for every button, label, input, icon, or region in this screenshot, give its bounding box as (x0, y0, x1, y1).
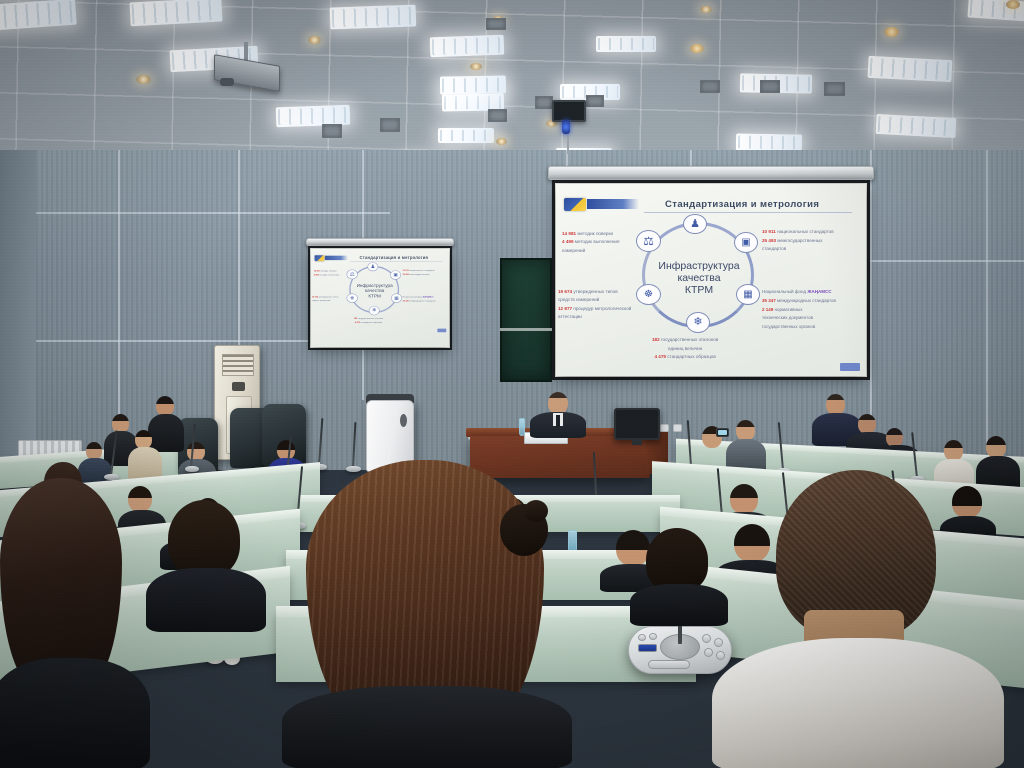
callout-number: 12 877 (558, 306, 572, 311)
head (277, 440, 295, 460)
callout-number: 4 499 (314, 274, 319, 276)
callout-number: 19 674 (312, 296, 318, 298)
foreground-audience-left (0, 478, 150, 768)
callout-left-top: 14 981 методик поверки 4 499 методик вып… (314, 269, 340, 277)
callout-left-bottom: 19 674 утвержденных типов средств измере… (558, 288, 631, 322)
callout-right-top: 10 911 национальных стандартов 25 493 ме… (762, 228, 834, 254)
ceiling-downlight (470, 63, 482, 70)
callout-text: Национальный фонд (403, 296, 423, 298)
callout-text: стандартов (762, 246, 786, 251)
state-emblem-icon (564, 198, 586, 211)
callout-text: средств измерений (558, 297, 599, 302)
ceiling-panel-light (736, 133, 802, 151)
foreground-audience-left-mid (146, 500, 266, 630)
callout-text: межгосударственных (777, 238, 822, 243)
torso (146, 568, 266, 632)
projector-body (214, 54, 280, 92)
projection-screen-surface: Стандартизация и метрология ♟ ▣ ▦ ❄ ☸ ⚖ … (556, 184, 866, 376)
node-building-icon: ▣ (734, 232, 758, 253)
ceiling-panel-light (330, 5, 417, 30)
ceiling-vent (586, 95, 604, 107)
node-person-icon: ♟ (368, 262, 379, 271)
callout-number: 2 149 (762, 307, 773, 312)
callout-number: 25 493 (762, 238, 776, 243)
conference-unit-talk-button[interactable] (648, 660, 690, 669)
head (826, 394, 845, 415)
audience-member-taking-photo (694, 420, 738, 464)
audience-member-bun (486, 500, 562, 572)
water-bottle (519, 418, 525, 436)
presenter-head (548, 392, 568, 414)
callout-number: 14 981 (562, 231, 576, 236)
ceiling-downlight (308, 36, 321, 44)
secondary-slide-header: Стандартизация и метрология (315, 254, 446, 261)
ceiling-vent (824, 82, 845, 96)
projection-screen-housing (548, 166, 874, 180)
wall-seam (866, 260, 1024, 262)
wall-monitor-indicator-icon (562, 120, 570, 134)
air-conditioner-grille (222, 354, 254, 376)
wall-socket (660, 424, 669, 432)
callout-text: средств измерений (312, 300, 330, 302)
callout-number: 35 347 (762, 298, 776, 303)
callout-text: технических документов (762, 315, 813, 320)
node-person-icon: ♟ (683, 214, 707, 234)
slide-page-badge (840, 363, 860, 371)
ceiling-panel-light (867, 56, 952, 82)
ceiling-vent (486, 18, 506, 30)
callout-accent: ЖАҢАМСС (423, 296, 434, 298)
lecture-hall-photo: Стандартизация и метрология ♟ ▣ ▦ ❄ ☸ ⚖ … (0, 0, 1024, 768)
callout-text: международных стандартов (409, 300, 435, 302)
callout-text: измерений (562, 248, 585, 253)
ceiling-vent (700, 80, 720, 93)
callout-text: стандартных образцов (667, 354, 716, 359)
callout-number: 182 (354, 317, 357, 319)
secondary-slide-title: Стандартизация и метрология (360, 255, 429, 260)
callout-number: 10 911 (403, 269, 409, 271)
ceiling-vent (322, 124, 342, 138)
hair (0, 478, 122, 688)
wall-socket (673, 424, 682, 432)
callout-number: 182 (652, 337, 660, 342)
torso (128, 447, 162, 480)
secondary-slide-content: Стандартизация и метрология ♟ ▣ ▦ ❄ ☸ ⚖ … (311, 249, 449, 334)
callout-bottom-center: 182 государственных эталонов 4 479 станд… (354, 317, 383, 325)
callout-text: методик выполнения (575, 239, 620, 244)
ceiling-vent (535, 96, 553, 109)
callout-number: 19 674 (558, 289, 572, 294)
state-emblem-icon (315, 255, 325, 261)
callout-text: аттестации (558, 314, 582, 319)
foreground-audience-mid-right (630, 528, 728, 624)
node-building-icon: ▣ (390, 270, 401, 279)
wall-seam (986, 150, 988, 450)
callout-right-bottom: Национальный фонд ЖАҢАМСС 35 347 междуна… (762, 288, 836, 332)
slide-page-badge (437, 329, 446, 333)
foreground-audience-right (712, 470, 1004, 768)
head (168, 500, 240, 578)
smartphone (716, 428, 729, 437)
callout-text: межгосударственных (409, 273, 429, 275)
hair-bun (524, 500, 548, 522)
center-line-2: КТРМ (685, 284, 713, 296)
center-line-2: КТРМ (368, 294, 381, 299)
ceiling-downlight (1006, 0, 1020, 9)
chalkboard (500, 258, 552, 382)
presenter-tie (556, 415, 560, 427)
node-scales-icon: ⚖ (636, 230, 661, 252)
callout-text: национальных стандартов (409, 269, 434, 271)
ceiling-downlight (496, 138, 507, 145)
head (646, 528, 708, 592)
callout-text: государственных эталонов (661, 337, 718, 342)
head (986, 436, 1006, 458)
conference-unit-button[interactable] (702, 634, 711, 643)
head (156, 396, 174, 416)
presenter-monitor-stand (632, 439, 642, 445)
ceiling-panel-light (876, 114, 957, 138)
ceiling-panel-light (430, 35, 505, 58)
callout-text: стандартных образцов (360, 321, 382, 323)
smartphone-screen (718, 430, 727, 435)
slide-header: Стандартизация и метрология (564, 196, 858, 212)
callout-number: 14 981 (314, 270, 320, 272)
presenter (528, 392, 588, 438)
wall-monitor (552, 100, 586, 122)
ceiling-panel-light (596, 36, 656, 52)
ceiling-vent (488, 109, 507, 122)
callout-text: утвержденных типов (573, 289, 617, 294)
callout-number: 4 499 (562, 239, 574, 244)
projector-lens (220, 78, 234, 86)
head (736, 420, 755, 441)
chalkboard-rail (500, 328, 552, 331)
callout-number: 25 493 (403, 273, 409, 275)
callout-text: государственных эталонов (358, 317, 384, 319)
conference-unit-display (638, 644, 657, 652)
slide-content: Стандартизация и метрология ♟ ▣ ▦ ❄ ☸ ⚖ … (556, 184, 866, 376)
slide-header-bar (325, 256, 348, 260)
callout-text: нормативных (775, 307, 803, 312)
ceiling-vent (380, 118, 400, 132)
wall-seam (0, 212, 390, 214)
callout-right-top: 10 911 национальных стандартов 25 493 ме… (403, 269, 435, 277)
node-snowflake-icon: ❄ (369, 306, 380, 315)
callout-left-bottom: 19 674 утвержденных типов средств измере… (312, 295, 339, 303)
callout-text: международных стандартов (777, 298, 836, 303)
center-line-1: Инфраструктура качества (658, 260, 739, 284)
callout-text: методик поверки (577, 231, 613, 236)
microphone-base (185, 466, 199, 472)
wall-seam (118, 150, 120, 450)
secondary-screen-housing (306, 238, 454, 246)
torso (0, 658, 150, 768)
callout-left-top: 14 981 методик поверки 4 499 методик вып… (562, 230, 619, 255)
callout-text: утвержденных типов (319, 296, 339, 298)
ceiling-projector (212, 42, 292, 98)
callout-text: методик поверки (320, 270, 336, 272)
left-side-wall (0, 150, 36, 480)
lectern-handle-icon (400, 414, 407, 427)
wall-seam (870, 150, 872, 450)
node-scales-icon: ⚖ (347, 269, 358, 279)
ceiling-downlight (884, 27, 899, 37)
node-snowflake-icon: ❄ (686, 312, 710, 333)
callout-text: единиц величин (668, 346, 702, 351)
callout-text: национальных стандартов (777, 229, 834, 234)
head (858, 414, 876, 434)
ceiling-vent (760, 80, 780, 93)
audience-member (128, 430, 162, 480)
callout-accent: ЖАҢАМСС (807, 289, 831, 294)
callout-number: 35 347 (403, 300, 409, 302)
ceiling-downlight (136, 75, 151, 84)
ceiling-downlight (700, 6, 712, 13)
callout-right-bottom: Национальный фонд ЖАҢАМСС 35 347 междуна… (403, 295, 436, 303)
callout-number: 4 479 (355, 321, 360, 323)
ceiling-panel-light (440, 75, 506, 94)
callout-number: 10 911 (762, 229, 776, 234)
torso-white-shirt (712, 638, 1004, 768)
air-conditioner-display (232, 382, 245, 391)
callout-bottom-center: 182 государственных эталонов единиц вели… (652, 336, 718, 362)
head (944, 440, 963, 461)
callout-number: 4 479 (654, 354, 666, 359)
ceiling-panel-light (438, 128, 494, 143)
secondary-screen-surface: Стандартизация и метрология ♟ ▣ ▦ ❄ ☸ ⚖ … (311, 249, 449, 347)
callout-text: государственных органов (762, 324, 815, 329)
secondary-center-label: Инфраструктура качества КТРМ (351, 283, 398, 299)
torso (630, 584, 728, 626)
ceiling-downlight (690, 44, 704, 53)
conference-unit-button[interactable] (649, 633, 657, 640)
presenter-monitor (614, 408, 660, 440)
callout-text: процедур метрологической (573, 306, 631, 311)
torso (282, 686, 572, 768)
slide-title-rule (644, 212, 852, 213)
slide-header-bar (587, 199, 639, 209)
slide-center-label: Инфраструктура качества КТРМ (646, 260, 752, 296)
callout-text: методик выполнения (319, 274, 339, 276)
callout-text: Национальный фонд (762, 289, 806, 294)
center-line-1: Инфраструктура качества (357, 283, 393, 294)
slide-title: Стандартизация и метрология (665, 199, 819, 210)
conference-unit-button[interactable] (638, 634, 646, 641)
